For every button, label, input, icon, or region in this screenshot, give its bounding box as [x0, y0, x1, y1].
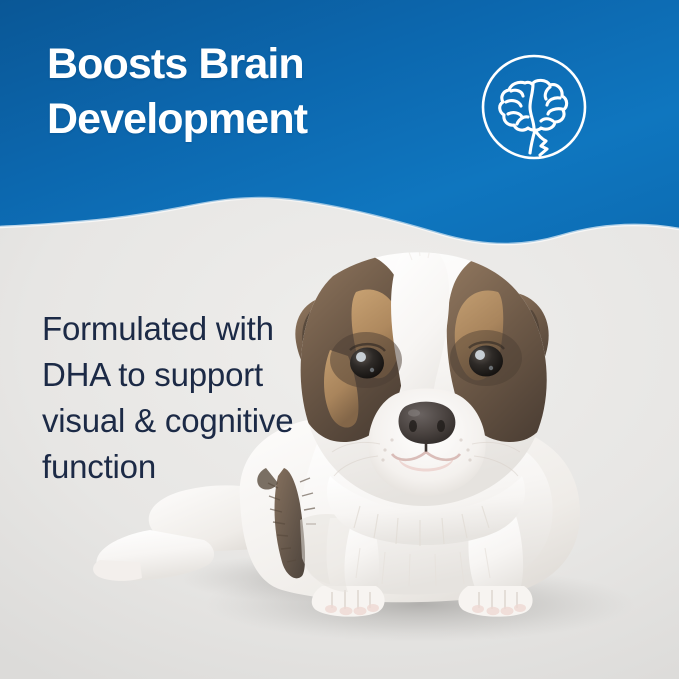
product-feature-banner: Boosts Brain Development — [0, 0, 679, 679]
puppy-nose — [399, 402, 456, 444]
brain-icon — [478, 51, 590, 163]
body-copy: Formulated with DHA to support visual & … — [42, 306, 332, 490]
page-title: Boosts Brain Development — [47, 37, 467, 147]
